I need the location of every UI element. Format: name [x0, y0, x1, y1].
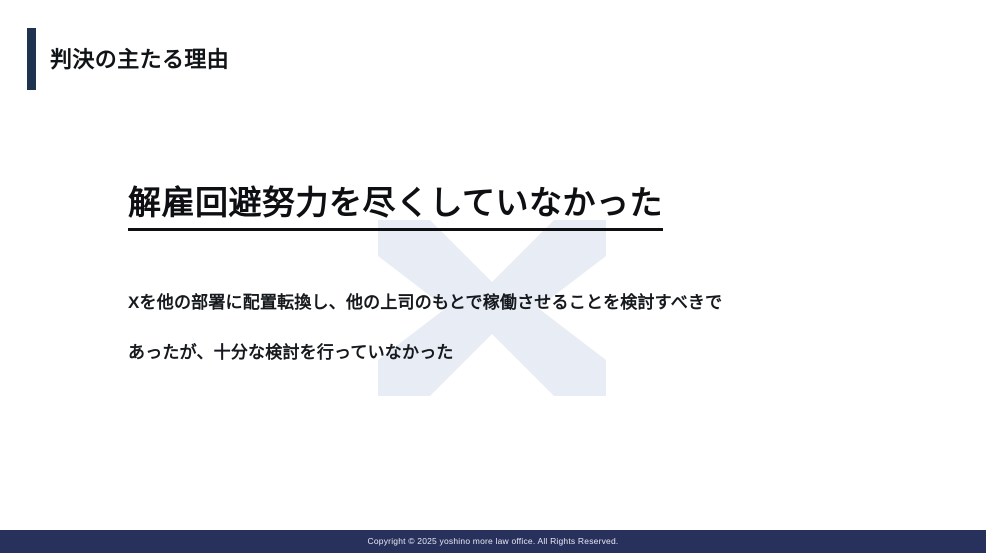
slide-canvas: 判決の主たる理由 解雇回避努力を尽くしていなかった Xを他の部署に配置転換し、他… — [0, 0, 986, 553]
page-title: 判決の主たる理由 — [50, 47, 229, 73]
title-accent-bar — [27, 28, 36, 90]
slide-header: 判決の主たる理由 — [0, 0, 986, 110]
lead-heading: 解雇回避努力を尽くしていなかった — [128, 182, 663, 231]
body-paragraph: Xを他の部署に配置転換し、他の上司のもとで稼働させることを検討すべきで あったが… — [128, 278, 888, 378]
body-line: あったが、十分な検討を行っていなかった — [128, 328, 888, 378]
slide-footer: Copyright © 2025 yoshino more law office… — [0, 530, 986, 553]
body-line: Xを他の部署に配置転換し、他の上司のもとで稼働させることを検討すべきで — [128, 278, 888, 328]
copyright-text: Copyright © 2025 yoshino more law office… — [368, 537, 619, 546]
